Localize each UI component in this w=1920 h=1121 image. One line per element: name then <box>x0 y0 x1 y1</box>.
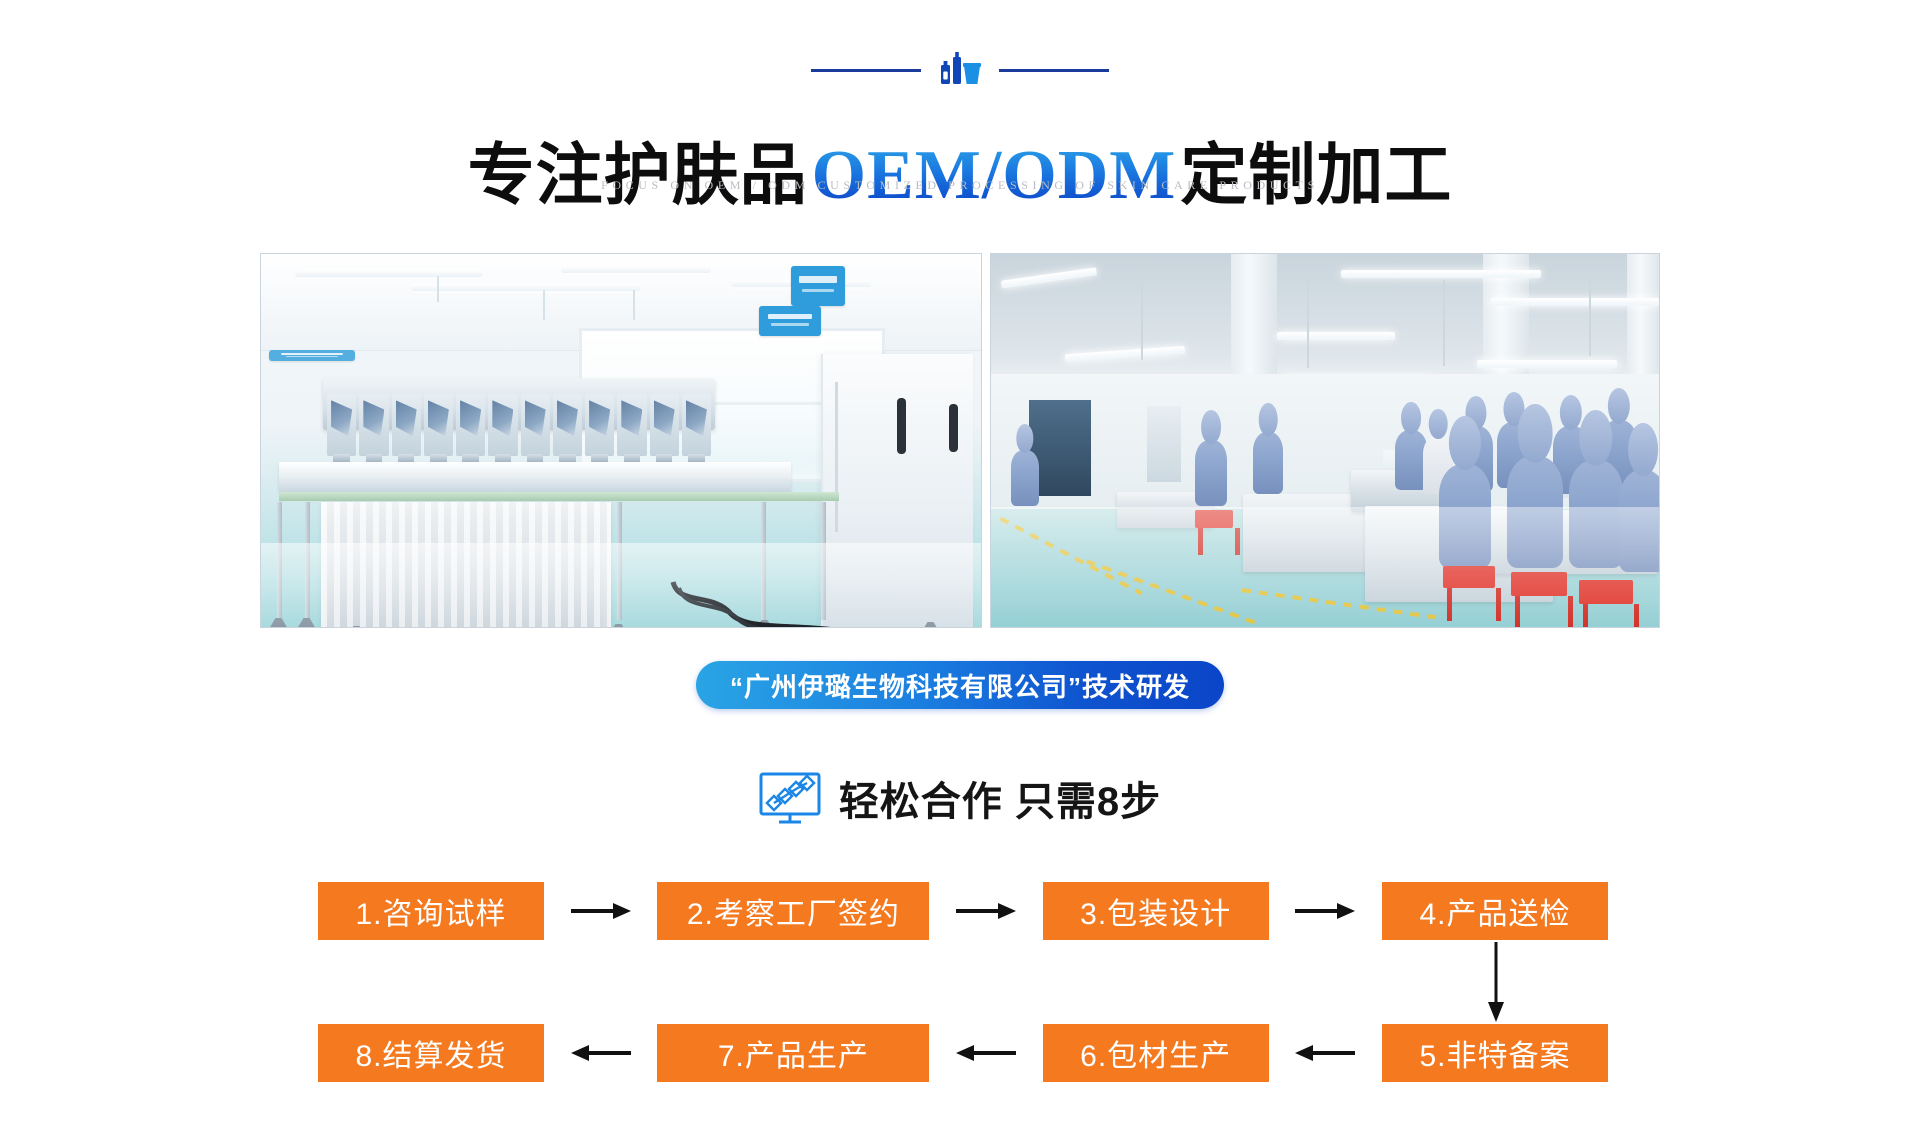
workshop-sign-line2 <box>791 266 845 306</box>
company-rnd-badge: “广州伊璐生物科技有限公司”技术研发 <box>696 661 1224 709</box>
ornament-line-left <box>811 69 921 72</box>
flow-arrow-4-to-5 <box>1484 940 1508 1024</box>
flow-arrow-2-to-3 <box>929 901 1042 921</box>
cooperation-flow-diagram: 1.咨询试样 2.考察工厂签约 3.包装设计 <box>318 882 1608 1092</box>
ornament-line-right <box>999 69 1109 72</box>
flow-step-2[interactable]: 2.考察工厂签约 <box>657 882 929 940</box>
arrow-right-icon <box>1293 901 1357 921</box>
workshop-sign-line1 <box>759 306 821 336</box>
page-title-accent: OEM/ODM <box>808 137 1181 214</box>
page-title-prefix: 专注护肤品 <box>468 139 808 213</box>
cooperation-section-title: 轻松合作 只需8步 <box>0 769 1920 827</box>
page-root: 专注护肤品OEM/ODM定制加工 FOCUS ON OEM / ODM CUST… <box>0 0 1920 1121</box>
cooperation-title-text: 轻松合作 只需8步 <box>839 769 1161 827</box>
flow-row-top: 1.咨询试样 2.考察工厂签约 3.包装设计 <box>318 882 1608 940</box>
arrow-right-icon <box>569 901 633 921</box>
arrow-left-icon <box>954 1043 1018 1063</box>
flow-step-6[interactable]: 6.包材生产 <box>1043 1024 1269 1082</box>
flow-row-bottom: 8.结算发货 7.产品生产 6.包材生产 <box>318 1024 1608 1082</box>
flow-arrow-1-to-2 <box>544 901 657 921</box>
flow-step-8[interactable]: 8.结算发货 <box>318 1024 544 1082</box>
flow-step-7[interactable]: 7.产品生产 <box>657 1024 929 1082</box>
flowchart-monitor-icon <box>759 772 821 824</box>
page-title: 专注护肤品OEM/ODM定制加工 <box>0 137 1920 215</box>
arrow-right-icon <box>954 901 1018 921</box>
arrow-left-icon <box>1293 1043 1357 1063</box>
flow-step-4[interactable]: 4.产品送检 <box>1382 882 1608 940</box>
header-ornament <box>0 48 1920 92</box>
flow-arrow-6-to-7 <box>929 1043 1042 1063</box>
flow-arrow-5-to-6 <box>1269 1043 1382 1063</box>
flow-step-1[interactable]: 1.咨询试样 <box>318 882 544 940</box>
flow-step-5[interactable]: 5.非特备案 <box>1382 1024 1608 1082</box>
flow-arrow-7-to-8 <box>544 1043 657 1063</box>
factory-photo-workshop <box>990 253 1660 628</box>
arrow-left-icon <box>569 1043 633 1063</box>
flow-step-3[interactable]: 3.包装设计 <box>1043 882 1269 940</box>
page-subtitle: FOCUS ON OEM / ODM CUSTOMIZED PROCESSING… <box>0 178 1920 193</box>
cosmetic-bottles-icon <box>939 51 981 89</box>
factory-photo-gallery <box>260 253 1660 628</box>
factory-photo-filling-line <box>260 253 982 628</box>
arrow-down-icon <box>1485 940 1507 1024</box>
flow-arrow-3-to-4 <box>1269 901 1382 921</box>
page-title-suffix: 定制加工 <box>1180 139 1452 213</box>
